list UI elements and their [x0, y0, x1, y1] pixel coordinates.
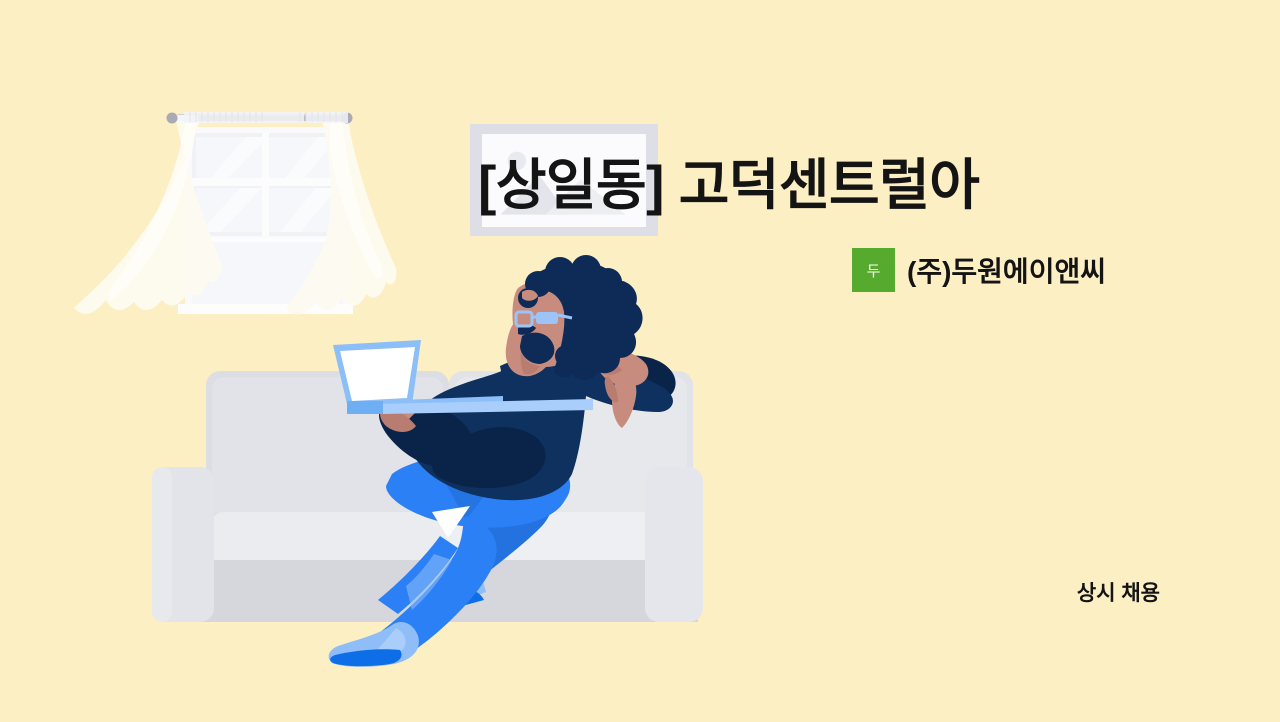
page-title: [상일동] 고덕센트럴아	[478, 140, 979, 220]
company-logo-badge: 두	[852, 248, 895, 292]
company-row[interactable]: 두 (주)두원에이앤씨	[852, 248, 1106, 292]
poster-canvas: [상일동] 고덕센트럴아 두 (주)두원에이앤씨 상시 채용	[0, 0, 1280, 722]
company-name[interactable]: (주)두원에이앤씨	[907, 250, 1106, 290]
foot	[329, 622, 419, 667]
person-on-couch-with-laptop-illustration	[0, 0, 720, 722]
hiring-status-label: 상시 채용	[1077, 577, 1160, 607]
posting-title-row: [상일동] 고덕센트럴아	[470, 124, 1270, 236]
